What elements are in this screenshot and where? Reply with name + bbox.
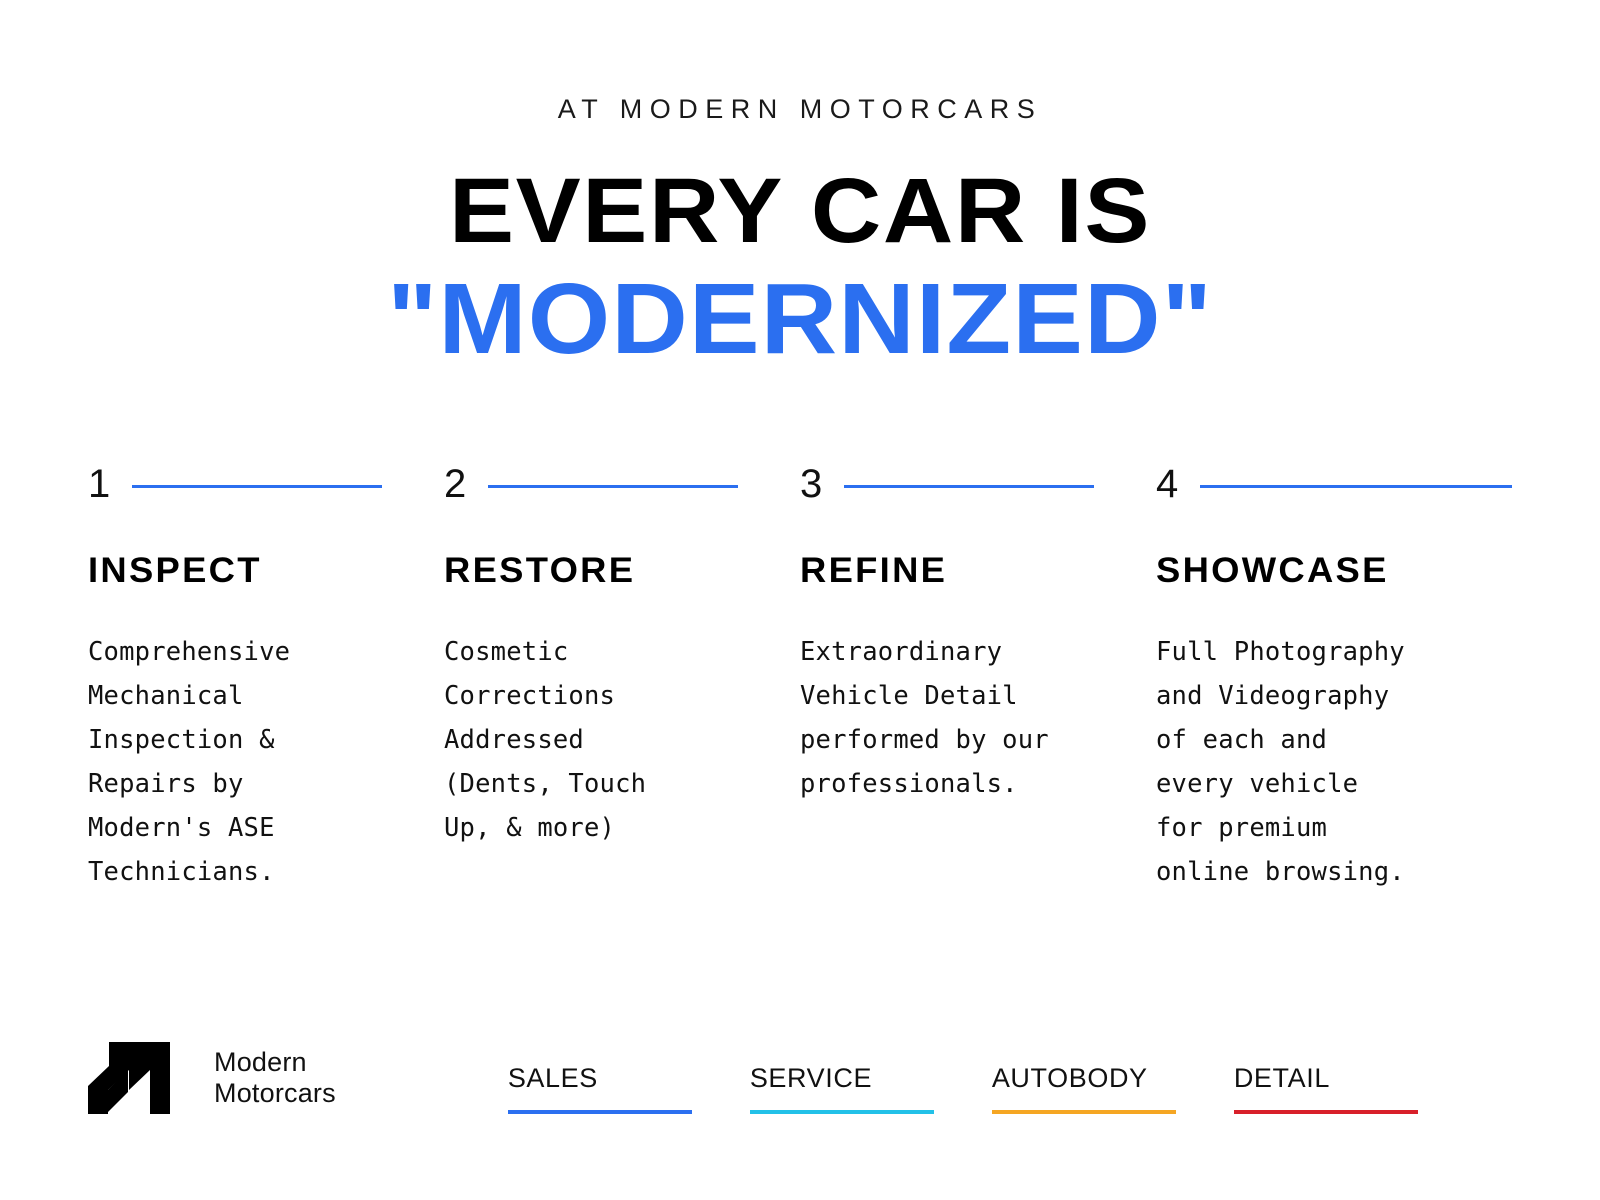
- step-title-1: INSPECT: [88, 553, 394, 588]
- step-title-2: RESTORE: [444, 553, 750, 588]
- footer-link-detail[interactable]: DETAIL: [1234, 1065, 1418, 1114]
- step-header-1: 1: [88, 462, 382, 506]
- footer-link-bar-service: [750, 1110, 934, 1114]
- footer: Modern Motorcars SALES SERVICE AUTOBODY …: [88, 1042, 1512, 1114]
- step-card-2: 2 RESTORE Cosmetic Corrections Addressed…: [444, 462, 800, 894]
- footer-link-sales[interactable]: SALES: [508, 1065, 692, 1114]
- footer-link-bar-sales: [508, 1110, 692, 1114]
- footer-link-bar-detail: [1234, 1110, 1418, 1114]
- step-rule-4: [1200, 485, 1512, 488]
- footer-link-bar-autobody: [992, 1110, 1176, 1114]
- step-rule-3: [844, 485, 1094, 488]
- headline-line-1: EVERY CAR IS: [0, 165, 1600, 257]
- step-number-1: 1: [88, 464, 110, 504]
- step-body-2: Cosmetic Corrections Addressed (Dents, T…: [444, 630, 738, 850]
- step-number-2: 2: [444, 464, 466, 504]
- brand-word-line-2: Motorcars: [214, 1078, 336, 1109]
- step-body-3: Extraordinary Vehicle Detail performed b…: [800, 630, 1094, 806]
- step-header-3: 3: [800, 462, 1094, 506]
- step-number-3: 3: [800, 464, 822, 504]
- footer-link-service[interactable]: SERVICE: [750, 1065, 934, 1114]
- footer-link-label-sales: SALES: [508, 1065, 692, 1110]
- step-rule-1: [132, 485, 382, 488]
- step-card-3: 3 REFINE Extraordinary Vehicle Detail pe…: [800, 462, 1156, 894]
- eyebrow-text: AT MODERN MOTORCARS: [0, 96, 1600, 123]
- brand-lockup: Modern Motorcars: [88, 1042, 336, 1114]
- step-body-4: Full Photography and Videography of each…: [1156, 630, 1512, 894]
- step-card-4: 4 SHOWCASE Full Photography and Videogra…: [1156, 462, 1512, 894]
- step-title-4: SHOWCASE: [1156, 553, 1526, 588]
- steps-row: 1 INSPECT Comprehensive Mechanical Inspe…: [88, 462, 1512, 894]
- step-title-3: REFINE: [800, 553, 1106, 588]
- brand-wordmark: Modern Motorcars: [214, 1047, 336, 1109]
- page-title: EVERY CAR IS "MODERNIZED": [0, 165, 1600, 369]
- step-body-1: Comprehensive Mechanical Inspection & Re…: [88, 630, 382, 894]
- headline-line-2: "MODERNIZED": [0, 269, 1600, 369]
- step-number-4: 4: [1156, 464, 1178, 504]
- slide-root: AT MODERN MOTORCARS EVERY CAR IS "MODERN…: [0, 0, 1600, 1200]
- footer-link-autobody[interactable]: AUTOBODY: [992, 1065, 1176, 1114]
- step-header-2: 2: [444, 462, 738, 506]
- step-card-1: 1 INSPECT Comprehensive Mechanical Inspe…: [88, 462, 444, 894]
- step-rule-2: [488, 485, 738, 488]
- header: AT MODERN MOTORCARS EVERY CAR IS "MODERN…: [0, 0, 1600, 369]
- footer-link-label-service: SERVICE: [750, 1065, 934, 1110]
- step-header-4: 4: [1156, 462, 1512, 506]
- footer-link-label-detail: DETAIL: [1234, 1065, 1418, 1110]
- brand-word-line-1: Modern: [214, 1047, 336, 1078]
- footer-links: SALES SERVICE AUTOBODY DETAIL: [508, 1065, 1418, 1114]
- modern-motorcars-monogram-icon: [88, 1042, 194, 1114]
- footer-link-label-autobody: AUTOBODY: [992, 1065, 1176, 1110]
